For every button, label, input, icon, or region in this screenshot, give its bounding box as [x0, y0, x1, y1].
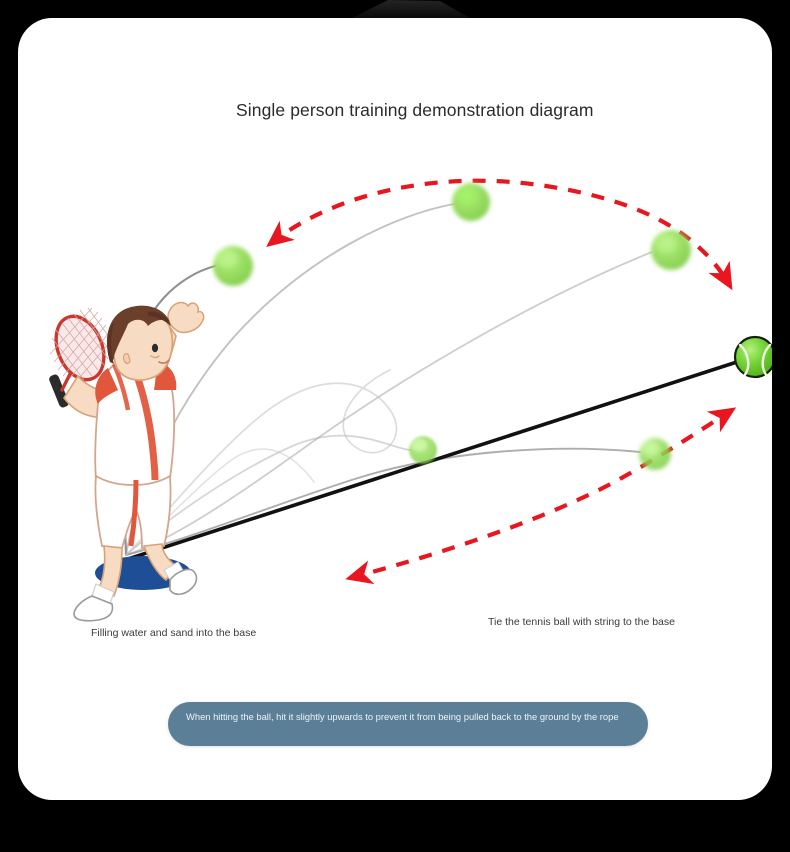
string-bundle: [125, 204, 652, 555]
product-image-card: Single person training demonstration dia…: [18, 18, 772, 800]
illustration-canvas: [18, 18, 772, 800]
screenshot-root: Single person training demonstration dia…: [0, 0, 790, 852]
ball-top-faded: [452, 183, 490, 221]
ball-right-faded: [651, 230, 691, 270]
tip-banner: When hitting the ball, hit it slightly u…: [168, 702, 648, 746]
caption-base: Filling water and sand into the base: [91, 627, 256, 639]
trajectory-arc-lower: [350, 410, 732, 578]
ball-center-faded: [409, 436, 437, 464]
tip-banner-text: When hitting the ball, hit it slightly u…: [186, 710, 632, 724]
caption-tie: Tie the tennis ball with string to the b…: [488, 616, 675, 628]
ball-main: [735, 337, 772, 377]
ball-mid-faded: [639, 438, 671, 470]
ball-left-faded: [213, 246, 253, 286]
